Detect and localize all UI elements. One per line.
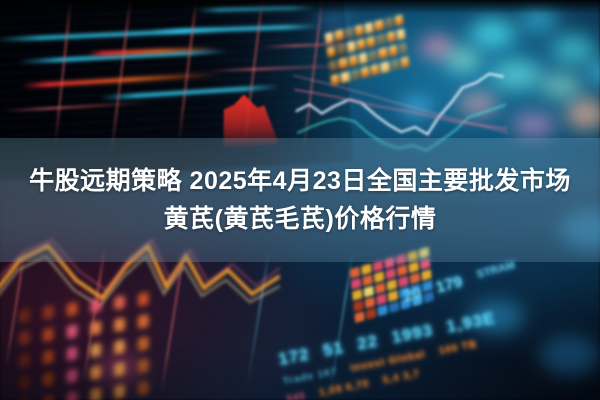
matrix-dot <box>114 317 125 332</box>
top-shadow <box>0 0 600 14</box>
board-cell <box>366 308 377 320</box>
matrix-dot <box>114 362 125 377</box>
bokeh-blob <box>566 98 600 130</box>
bokeh-blob <box>470 18 516 48</box>
matrix-dot <box>90 343 101 358</box>
matrix-dot <box>67 302 78 317</box>
matrix-dot <box>67 369 78 384</box>
matrix-dot <box>138 359 149 374</box>
bokeh-blob <box>420 36 454 58</box>
matrix-dot <box>138 314 149 329</box>
ticker-label: 5,4 3,7 <box>382 368 421 386</box>
board-cell <box>353 300 364 312</box>
matrix-dot <box>90 387 101 400</box>
matrix-dot <box>43 350 54 365</box>
matrix-dot <box>138 336 149 351</box>
matrix-dot <box>67 324 78 339</box>
title-line-2: 黄芪(黄芪毛芪)价格行情 <box>164 200 437 238</box>
board-cell <box>421 269 432 281</box>
ticker-label: 340 <box>285 391 306 400</box>
title-line-1: 牛股远期策略 2025年4月23日全国主要批发市场 <box>29 162 571 200</box>
matrix-dot <box>90 299 101 314</box>
matrix-dot <box>43 372 54 387</box>
matrix-dot <box>43 327 54 342</box>
ticker-value: 20 <box>402 285 424 307</box>
board-cell <box>377 305 388 317</box>
board-cell <box>351 278 362 290</box>
matrix-dot <box>19 353 30 368</box>
ticker-label: Trade 167 <box>282 366 338 387</box>
matrix-dot <box>90 365 101 380</box>
board-cell <box>398 276 409 288</box>
board-cell <box>387 279 398 291</box>
board-cell <box>385 268 396 280</box>
title-band: 牛股远期策略 2025年4月23日全国主要批发市场 黄芪(黄芪毛芪)价格行情 <box>0 138 600 262</box>
matrix-dot <box>114 384 125 399</box>
matrix-dot <box>67 391 78 400</box>
matrix-dot <box>43 394 54 400</box>
bokeh-blob <box>552 34 596 64</box>
board-cell <box>365 297 376 309</box>
ticker-value: 172 <box>277 344 312 370</box>
matrix-dot <box>19 375 30 390</box>
board-cell <box>388 290 399 302</box>
board-cell <box>352 289 363 301</box>
board-cell <box>410 272 421 284</box>
bokeh-blob <box>540 72 582 100</box>
board-cell <box>354 311 365 323</box>
banner-image: 172 51 22 1993 1,93E Trade 167 Invest Gl… <box>0 0 600 400</box>
bokeh-blob <box>512 112 556 138</box>
matrix-dot <box>114 295 125 310</box>
matrix-dot <box>67 346 78 361</box>
board-cell <box>362 275 373 287</box>
board-cell <box>397 265 408 277</box>
matrix-dot <box>19 331 30 346</box>
matrix-dot <box>138 381 149 396</box>
board-cell <box>374 271 385 283</box>
board-cell <box>376 293 387 305</box>
matrix-dot <box>43 305 54 320</box>
board-cell <box>361 263 372 275</box>
ticker-value: 22 <box>356 331 380 355</box>
board-cell <box>375 282 386 294</box>
ticker-value: 51 <box>321 338 345 362</box>
matrix-dot <box>138 292 149 307</box>
board-cell <box>389 301 400 313</box>
matrix-dot <box>114 340 125 355</box>
matrix-dot <box>90 321 101 336</box>
board-cell <box>408 261 419 273</box>
board-cell <box>364 286 375 298</box>
matrix-dot <box>19 309 30 324</box>
ticker-label: 1,09 6,70 <box>318 378 370 398</box>
board-cell <box>350 267 361 279</box>
